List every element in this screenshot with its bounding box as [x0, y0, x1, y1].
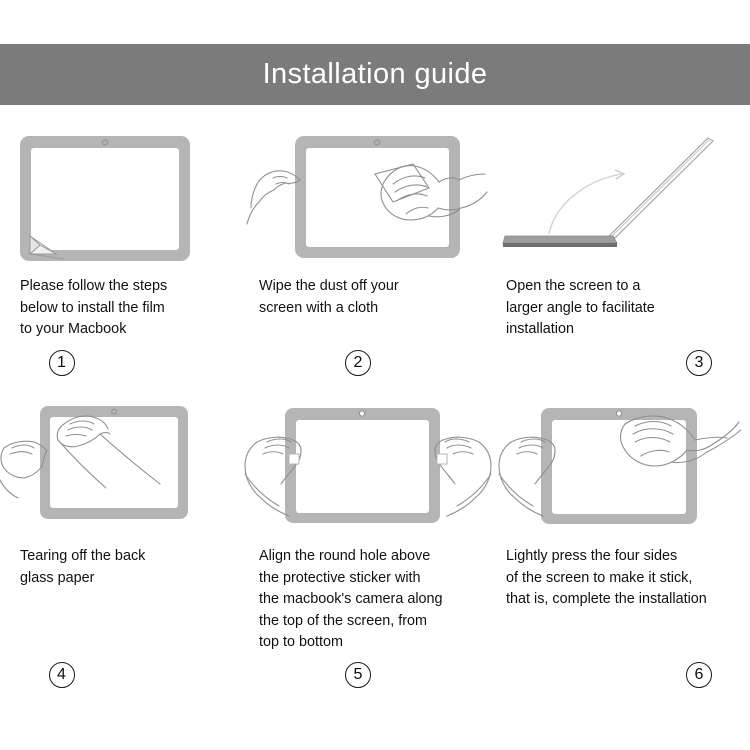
- film-corner-left-icon: [289, 454, 299, 464]
- camera-hole-icon: [616, 411, 621, 416]
- laptop-lid-icon: [609, 138, 713, 238]
- step-6-illustration: [493, 394, 750, 546]
- step-5-badge-row: 5: [243, 662, 493, 688]
- step-2-caption: Wipe the dust off your screen with a clo…: [243, 276, 493, 342]
- step-4-badge-row: 4: [0, 662, 243, 688]
- step-card-2: Wipe the dust off your screen with a clo…: [243, 126, 493, 376]
- installation-guide-header: Installation guide: [0, 44, 750, 105]
- step-6-caption: Lightly press the four sides of the scre…: [493, 546, 750, 656]
- camera-hole-icon: [359, 411, 364, 416]
- step-1-badge-row: 1: [0, 350, 243, 376]
- step-card-5: Align the round hole above the protectiv…: [243, 394, 493, 688]
- step-3-badge-row: 3: [493, 350, 750, 376]
- page-title: Installation guide: [263, 60, 488, 89]
- tablet-screen-icon: [552, 420, 686, 514]
- step-number-badge: 6: [686, 662, 712, 688]
- step-card-4: Tearing off the back glass paper 4: [0, 394, 243, 688]
- laptop-base-icon: [503, 236, 617, 247]
- step-card-3: Open the screen to a larger angle to fac…: [493, 126, 750, 376]
- step-number-badge: 2: [345, 350, 371, 376]
- tablet-screen-icon: [31, 148, 179, 250]
- step-4-caption: Tearing off the back glass paper: [0, 546, 243, 656]
- step-number-badge: 3: [686, 350, 712, 376]
- tablet-screen-icon: [306, 148, 449, 247]
- step-5-illustration: [243, 394, 493, 546]
- left-hand-icon: [247, 171, 300, 224]
- tablet-screen-icon: [50, 417, 178, 508]
- step-6-badge-row: 6: [493, 662, 750, 688]
- right-hand-icon: [435, 437, 491, 516]
- step-4-illustration: [0, 394, 243, 546]
- step-number-badge: 5: [345, 662, 371, 688]
- step-2-badge-row: 2: [243, 350, 493, 376]
- steps-grid: Please follow the steps below to install…: [0, 126, 750, 688]
- step-number-badge: 4: [49, 662, 75, 688]
- support-hand-icon: [0, 441, 47, 498]
- film-corner-right-icon: [437, 454, 447, 464]
- step-5-caption: Align the round hole above the protectiv…: [243, 546, 493, 656]
- step-1-illustration: [0, 126, 243, 276]
- step-3-illustration: [493, 126, 750, 276]
- step-2-illustration: [243, 126, 493, 276]
- rotation-arc-icon: [549, 170, 624, 234]
- step-card-1: Please follow the steps below to install…: [0, 126, 243, 376]
- step-3-caption: Open the screen to a larger angle to fac…: [493, 276, 750, 342]
- step-number-badge: 1: [49, 350, 75, 376]
- step-1-caption: Please follow the steps below to install…: [0, 276, 243, 342]
- tablet-screen-icon: [296, 420, 429, 513]
- step-card-6: Lightly press the four sides of the scre…: [493, 394, 750, 688]
